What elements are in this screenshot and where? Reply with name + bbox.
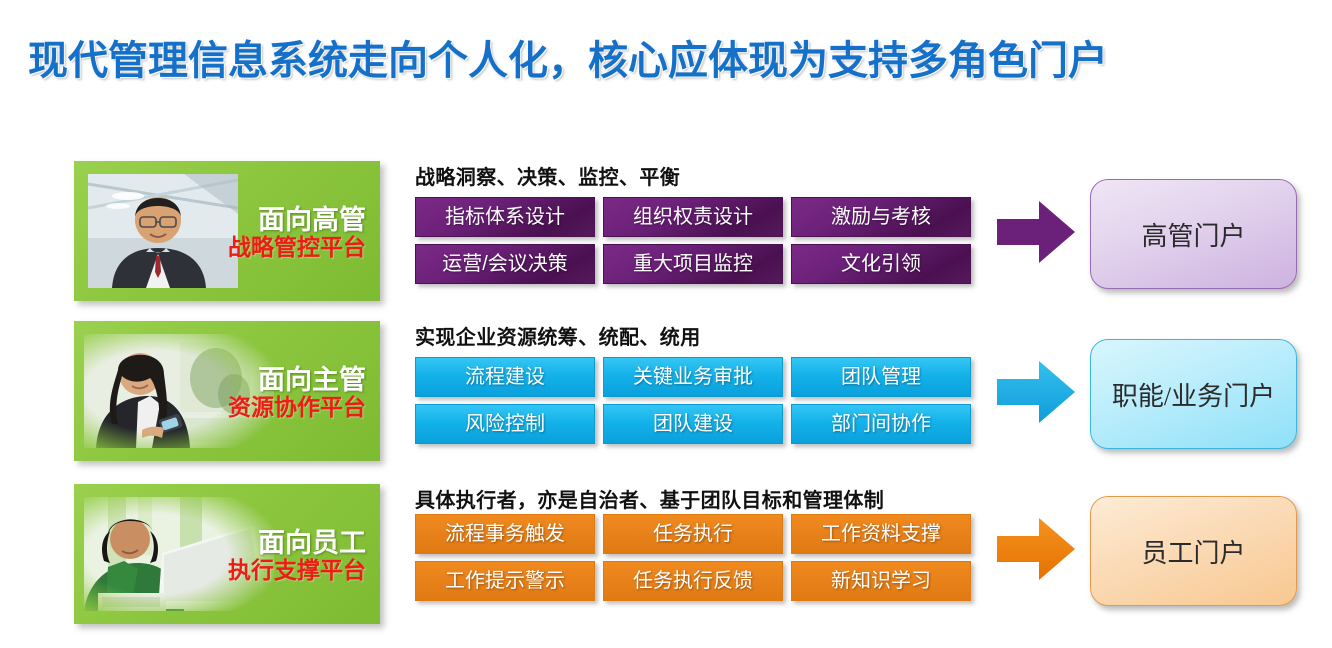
persona-sub-label: 资源协作平台	[228, 395, 366, 421]
capability-heading: 战略洞察、决策、监控、平衡	[415, 161, 680, 190]
capability-chip-grid: 流程建设 关键业务审批 团队管理 风险控制 团队建设 部门间协作	[415, 357, 975, 451]
persona-card-executive: 面向高管 战略管控平台	[74, 161, 380, 301]
portal-box-executive[interactable]: 高管门户	[1090, 179, 1297, 289]
portal-label: 员工门户	[1141, 533, 1245, 570]
capability-chip[interactable]: 激励与考核	[791, 197, 971, 237]
capability-chip[interactable]: 任务执行	[603, 514, 783, 554]
portal-label: 职能/业务门户	[1112, 376, 1275, 413]
persona-main-label: 面向高管	[228, 205, 366, 235]
capability-chip-grid: 指标体系设计 组织权责设计 激励与考核 运营/会议决策 重大项目监控 文化引领	[415, 197, 975, 291]
capability-heading: 具体执行者，亦是自治者、基于团队目标和管理体制	[415, 484, 884, 513]
capability-chip[interactable]: 新知识学习	[791, 561, 971, 601]
capability-chip-row: 风险控制 团队建设 部门间协作	[415, 404, 975, 444]
portal-box-employee[interactable]: 员工门户	[1090, 496, 1297, 606]
capability-chip-row: 运营/会议决策 重大项目监控 文化引领	[415, 244, 975, 284]
slide-canvas: 现代管理信息系统走向个人化，核心应体现为支持多角色门户	[0, 0, 1332, 648]
capability-chip-grid: 流程事务触发 任务执行 工作资料支撑 工作提示警示 任务执行反馈 新知识学习	[415, 514, 975, 608]
role-row-manager: 面向主管 资源协作平台 实现企业资源统筹、统配、统用 流程建设 关键业务审批 团…	[0, 317, 1332, 467]
persona-main-label: 面向员工	[228, 528, 366, 558]
persona-card-manager: 面向主管 资源协作平台	[74, 321, 380, 461]
capability-chip[interactable]: 运营/会议决策	[415, 244, 595, 284]
capability-chip[interactable]: 文化引领	[791, 244, 971, 284]
capability-chip[interactable]: 工作资料支撑	[791, 514, 971, 554]
capability-chip[interactable]: 流程建设	[415, 357, 595, 397]
capability-chip[interactable]: 关键业务审批	[603, 357, 783, 397]
portal-label: 高管门户	[1141, 216, 1245, 253]
capability-chip[interactable]: 工作提示警示	[415, 561, 595, 601]
capability-chip[interactable]: 风险控制	[415, 404, 595, 444]
capability-group-manager: 实现企业资源统筹、统配、统用 流程建设 关键业务审批 团队管理 风险控制 团队建…	[415, 317, 975, 467]
capability-chip-row: 流程建设 关键业务审批 团队管理	[415, 357, 975, 397]
capability-group-executive: 战略洞察、决策、监控、平衡 指标体系设计 组织权责设计 激励与考核 运营/会议决…	[415, 157, 975, 307]
portal-box-manager[interactable]: 职能/业务门户	[1090, 339, 1297, 449]
capability-heading: 实现企业资源统筹、统配、统用	[415, 321, 701, 350]
capability-chip[interactable]: 重大项目监控	[603, 244, 783, 284]
persona-label-group-executive: 面向高管 战略管控平台	[228, 205, 366, 261]
capability-chip[interactable]: 流程事务触发	[415, 514, 595, 554]
capability-chip-row: 指标体系设计 组织权责设计 激励与考核	[415, 197, 975, 237]
capability-group-employee: 具体执行者，亦是自治者、基于团队目标和管理体制 流程事务触发 任务执行 工作资料…	[415, 480, 975, 630]
capability-chip-row: 工作提示警示 任务执行反馈 新知识学习	[415, 561, 975, 601]
persona-label-group-manager: 面向主管 资源协作平台	[228, 365, 366, 421]
persona-photo-executive	[88, 174, 238, 288]
capability-chip[interactable]: 团队管理	[791, 357, 971, 397]
capability-chip[interactable]: 团队建设	[603, 404, 783, 444]
page-title: 现代管理信息系统走向个人化，核心应体现为支持多角色门户	[28, 28, 1108, 86]
capability-chip[interactable]: 任务执行反馈	[603, 561, 783, 601]
arrow-right-icon-manager	[997, 361, 1075, 423]
arrow-right-icon-employee	[997, 518, 1075, 580]
capability-chip-row: 流程事务触发 任务执行 工作资料支撑	[415, 514, 975, 554]
persona-label-group-employee: 面向员工 执行支撑平台	[228, 528, 366, 584]
capability-chip[interactable]: 组织权责设计	[603, 197, 783, 237]
arrow-right-icon-executive	[997, 201, 1075, 263]
role-row-executive: 面向高管 战略管控平台 战略洞察、决策、监控、平衡 指标体系设计 组织权责设计 …	[0, 157, 1332, 307]
persona-sub-label: 执行支撑平台	[228, 558, 366, 584]
capability-chip[interactable]: 指标体系设计	[415, 197, 595, 237]
persona-sub-label: 战略管控平台	[228, 235, 366, 261]
persona-main-label: 面向主管	[228, 365, 366, 395]
role-row-employee: 面向员工 执行支撑平台 具体执行者，亦是自治者、基于团队目标和管理体制 流程事务…	[0, 480, 1332, 630]
persona-card-employee: 面向员工 执行支撑平台	[74, 484, 380, 624]
capability-chip[interactable]: 部门间协作	[791, 404, 971, 444]
